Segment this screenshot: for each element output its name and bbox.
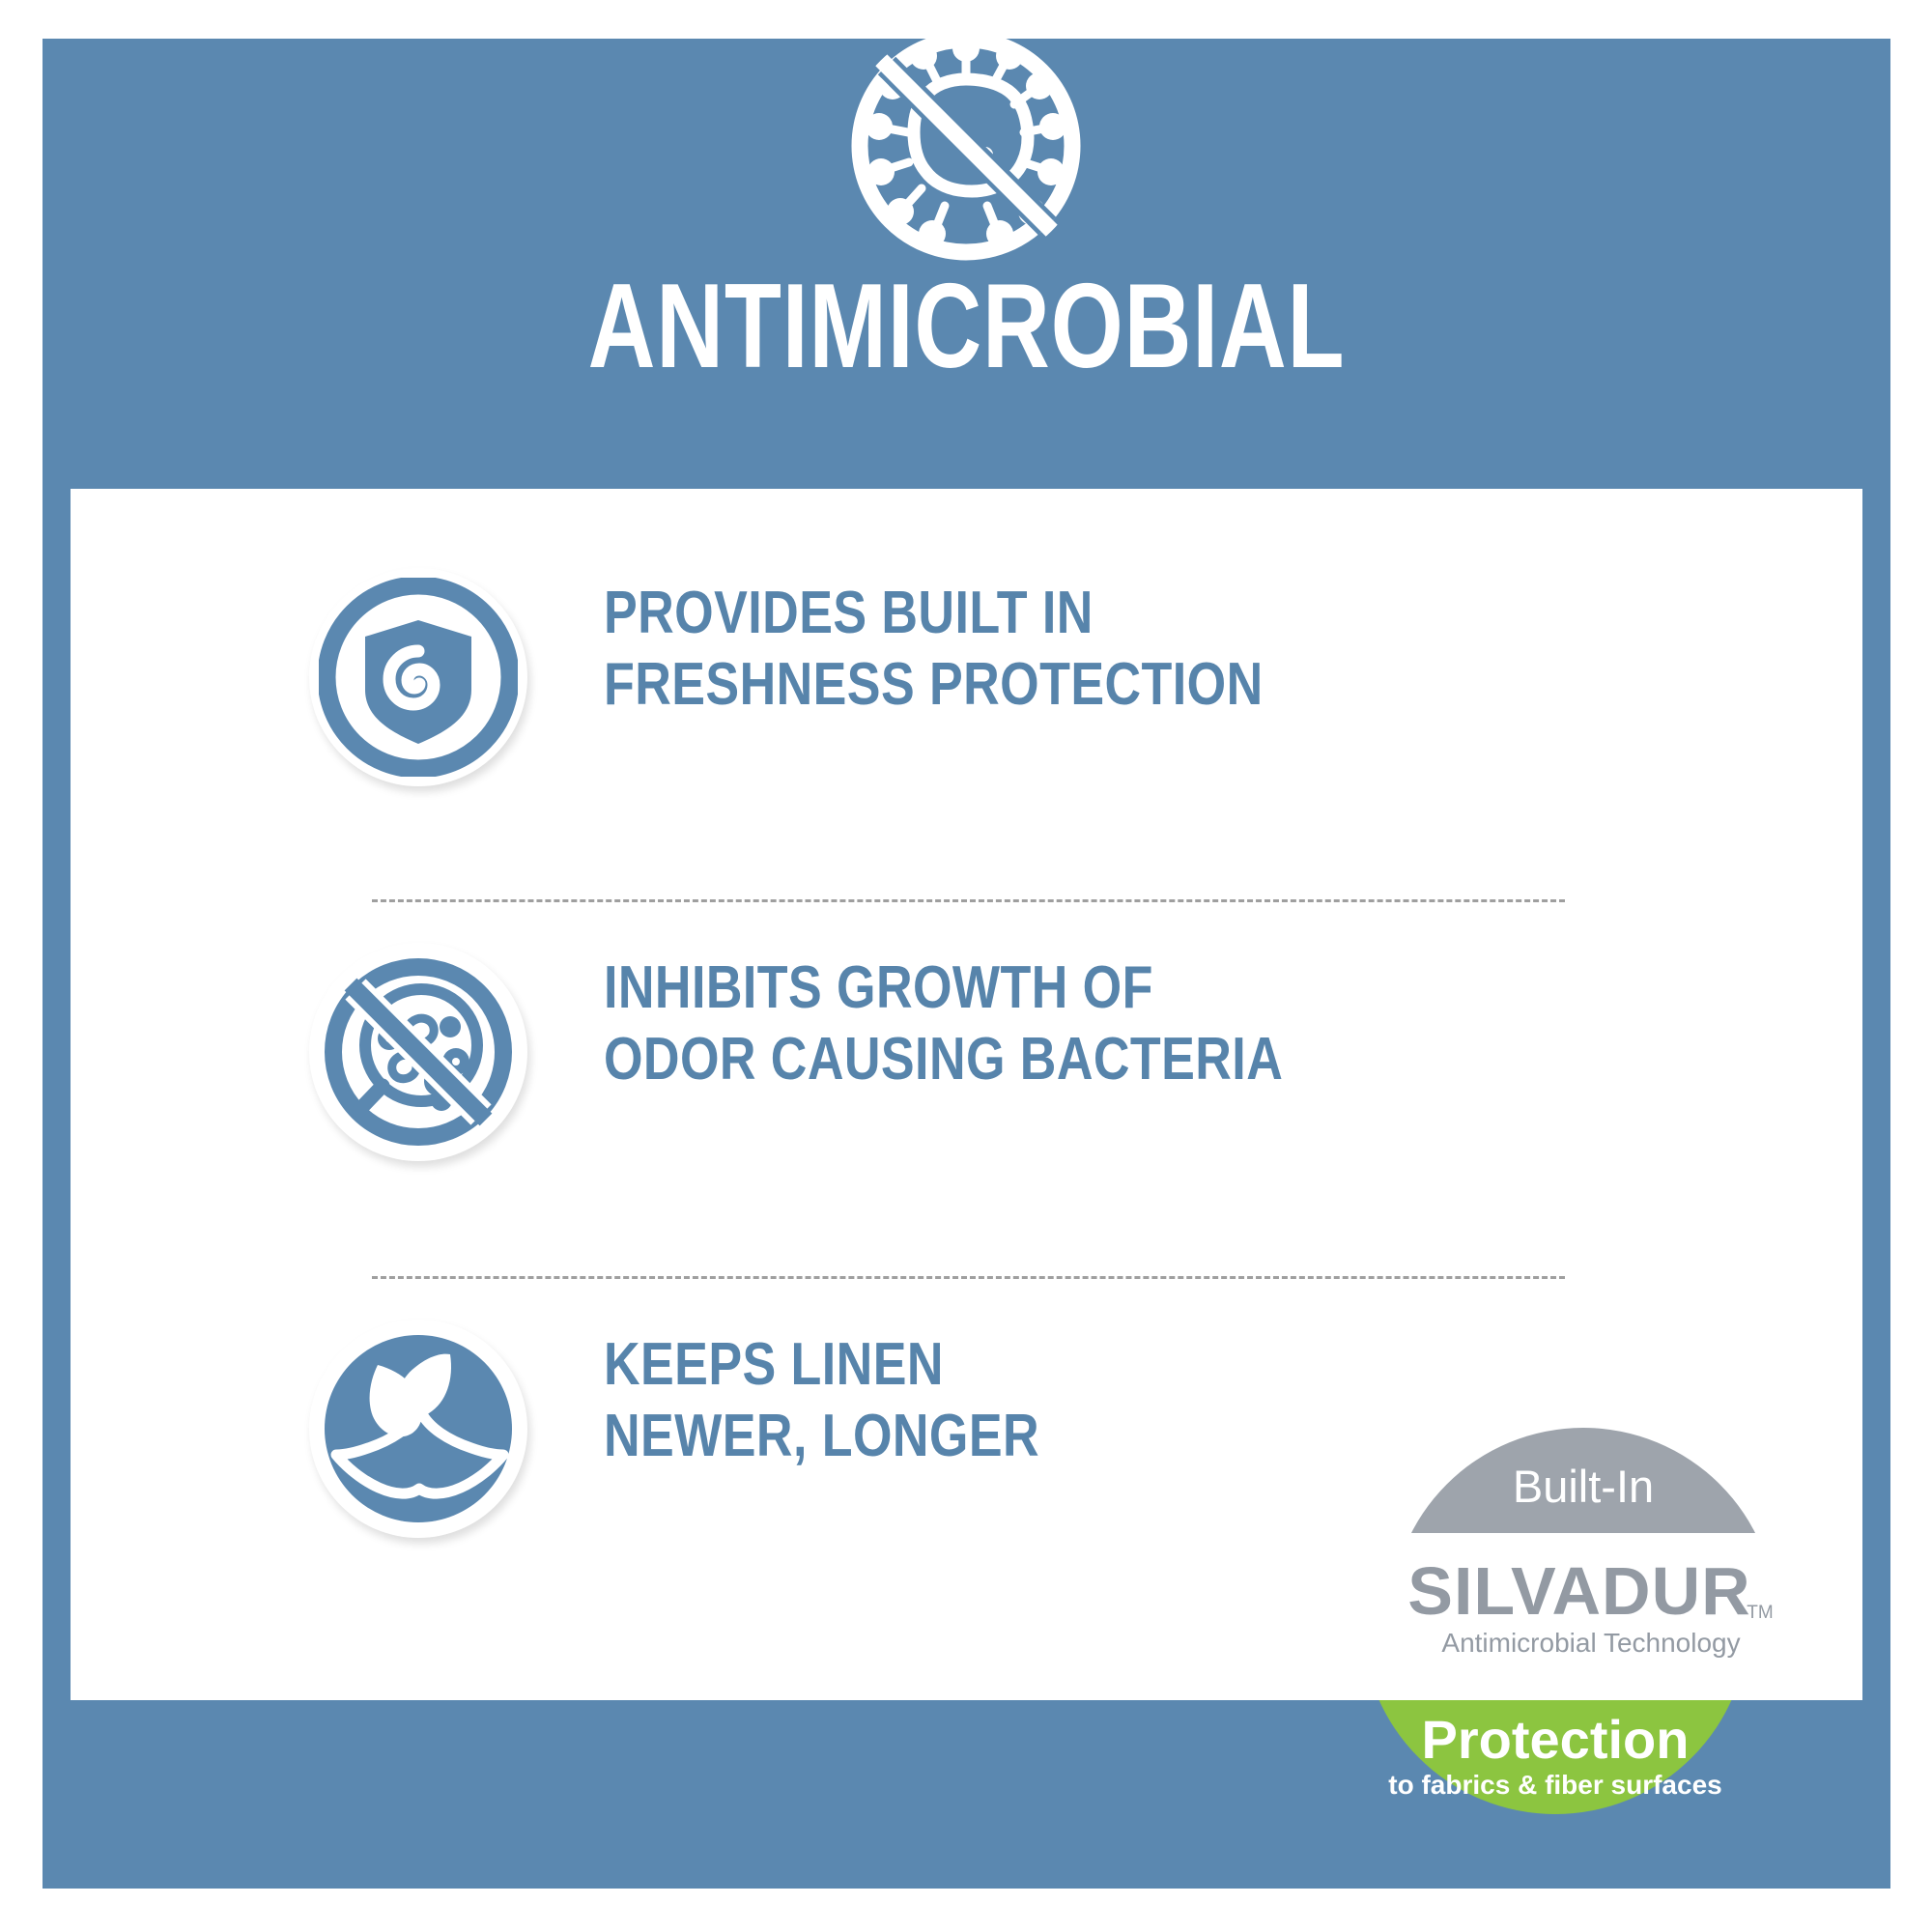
feature-line-2: FRESHNESS PROTECTION (604, 649, 1496, 721)
silvadur-brand-label: SILVADUR (1407, 1553, 1750, 1629)
silvadur-tagline-label: Antimicrobial Technology (1441, 1628, 1740, 1658)
poster-canvas: ANTIMICROBIAL PROVIDES BUILT IN FRESHNES… (0, 0, 1932, 1932)
silvadur-trademark-label: TM (1747, 1603, 1773, 1623)
silvadur-built-in-label: Built-In (1513, 1461, 1654, 1512)
feature-text: PROVIDES BUILT IN FRESHNESS PROTECTION (604, 578, 1666, 721)
feature-text: INHIBITS GROWTH OF ODOR CAUSING BACTERIA (604, 952, 1666, 1095)
features-card: PROVIDES BUILT IN FRESHNESS PROTECTION (71, 489, 1862, 1700)
silvadur-badge: Built-In SILVADUR TM Antimicrobial Techn… (1390, 1425, 1776, 1700)
no-virus-icon (840, 10, 1092, 280)
sprout-leaf-icon (309, 1320, 527, 1538)
poster-header: ANTIMICROBIAL (43, 39, 1890, 489)
silvadur-badge-lower-lobe: Protection to fabrics & fiber surfaces (1362, 1700, 1748, 1818)
feature-line-2: NEWER, LONGER (604, 1401, 1496, 1472)
feature-line-1: PROVIDES BUILT IN (604, 578, 1496, 649)
section-divider (372, 899, 1565, 902)
feature-row: PROVIDES BUILT IN FRESHNESS PROTECTION (71, 568, 1862, 858)
page-title: ANTIMICROBIAL (245, 267, 1687, 386)
no-bacteria-magnifier-icon (309, 943, 527, 1161)
feature-line-1: INHIBITS GROWTH OF (604, 952, 1496, 1024)
section-divider (372, 1276, 1565, 1279)
silvadur-protection-headline: Protection (1422, 1709, 1690, 1770)
feature-line-1: KEEPS LINEN (604, 1329, 1496, 1401)
shield-spiral-protection-icon (309, 568, 527, 786)
feature-line-2: ODOR CAUSING BACTERIA (604, 1024, 1496, 1095)
silvadur-protection-subline: to fabrics & fiber surfaces (1388, 1770, 1721, 1800)
feature-row: INHIBITS GROWTH OF ODOR CAUSING BACTERIA (71, 943, 1862, 1233)
